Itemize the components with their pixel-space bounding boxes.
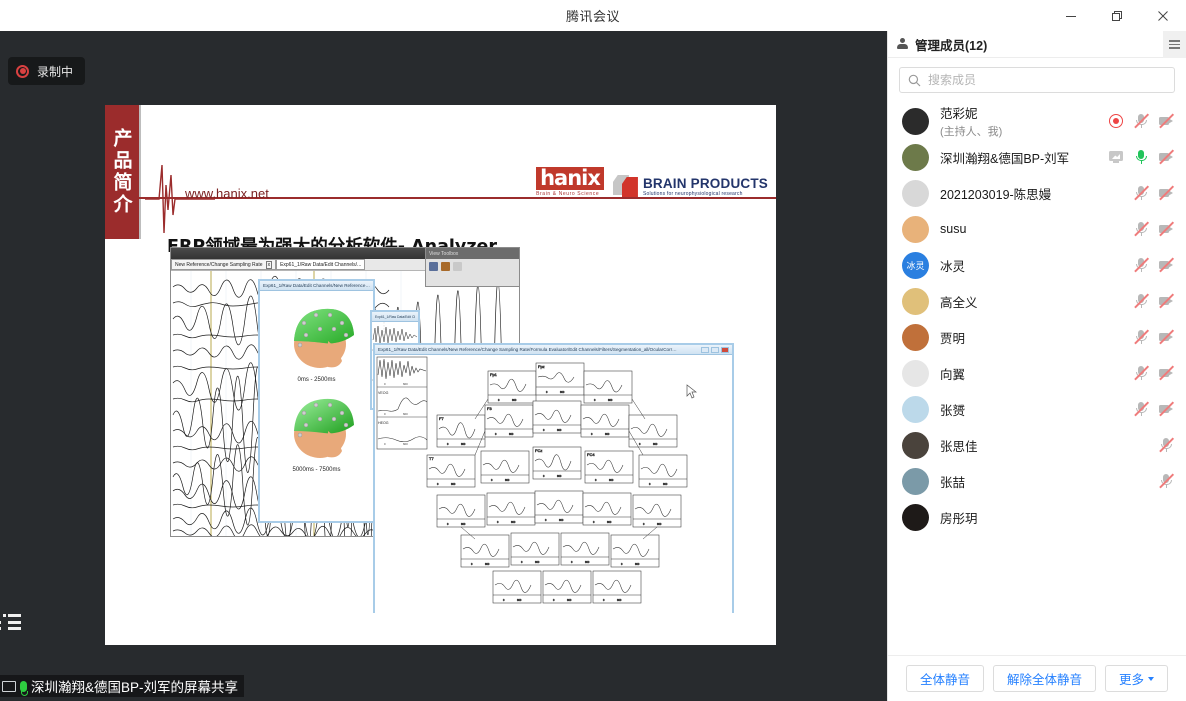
tencent-meeting-window: 腾讯会议 录制中 — [0, 0, 1186, 701]
screen-share-icon[interactable] — [1108, 149, 1124, 165]
slide-logos: hanix Brain & Neuro Science BRAIN PRODUC… — [536, 167, 768, 197]
head-model-1-label: 0ms - 2500ms — [297, 377, 335, 383]
camera-muted-icon[interactable] — [1158, 113, 1174, 129]
camera-muted-icon[interactable] — [1158, 257, 1174, 273]
slide-side-banner: 产品简介 — [105, 105, 139, 239]
participant-name-block: 深圳瀚翔&德国BP-刘军 — [940, 148, 1097, 167]
camera-muted-icon[interactable] — [1158, 329, 1174, 345]
svg-text:600: 600 — [557, 474, 562, 478]
microphone-on-icon[interactable] — [1133, 149, 1149, 165]
camera-muted-icon[interactable] — [1158, 401, 1174, 417]
participants-panel: 管理成员(12) 范彩妮(主持人、我)深圳瀚翔&德国BP-刘军202120301… — [887, 31, 1186, 701]
hanix-logo: hanix Brain & Neuro Science — [536, 167, 604, 197]
more-button-label: 更多 — [1119, 669, 1144, 688]
participant-name: 向翼 — [940, 364, 1122, 383]
svg-text:600: 600 — [609, 478, 614, 482]
avatar — [902, 432, 929, 459]
svg-text:600: 600 — [509, 432, 514, 436]
analyzer-montage-window: Exp61_1/Raw Data/Edit Channels/New Refer… — [373, 343, 734, 613]
minimize-icon — [1065, 10, 1077, 22]
camera-muted-icon[interactable] — [1158, 293, 1174, 309]
eeg-head-model-2 — [276, 389, 358, 461]
screen-share-icon — [2, 681, 16, 692]
close-icon — [1157, 10, 1169, 22]
participants-panel-title: 管理成员(12) — [915, 35, 987, 54]
shared-screen-stage: 录制中 产品简介 www.hanix.net hanix Brain & Neu… — [0, 31, 887, 701]
participant-name: 贾明 — [940, 328, 1122, 347]
svg-text:600: 600 — [461, 522, 466, 526]
montage-window-controls[interactable] — [701, 347, 729, 353]
participant-status-icons — [1108, 149, 1174, 165]
svg-text:600: 600 — [517, 598, 522, 602]
participants-panel-header: 管理成员(12) — [888, 31, 1186, 58]
svg-text:600: 600 — [403, 412, 408, 416]
participant-name-block: 张思佳 — [940, 436, 1147, 455]
svg-text:FCz: FCz — [535, 448, 542, 453]
participant-name: 2021203019-陈思嫚 — [940, 184, 1122, 203]
toolbox-titlebar: View Toolbox — [426, 248, 519, 259]
participant-row[interactable]: 2021203019-陈思嫚 — [888, 175, 1186, 211]
svg-text:600: 600 — [403, 382, 408, 386]
slide-side-banner-text: 产品简介 — [109, 128, 136, 216]
maximize-icon — [711, 347, 719, 353]
screen-share-status-text: 深圳瀚翔&德国BP-刘军的屏幕共享 — [31, 676, 238, 696]
head-model-window-titlebar: Exp61_1/Raw Data/Edit Channels/New Refer… — [260, 281, 373, 291]
brain-products-head-icon — [613, 175, 639, 197]
svg-text:600: 600 — [559, 518, 564, 522]
montage-window-titlebar[interactable]: Exp61_1/Raw Data/Edit Channels/New Refer… — [375, 345, 732, 355]
participant-status-icons — [1158, 437, 1174, 453]
mute-all-button[interactable]: 全体静音 — [906, 665, 984, 692]
brain-products-logo-tagline: Solutions for neurophysiological researc… — [643, 191, 768, 197]
participant-row[interactable]: susu — [888, 211, 1186, 247]
recording-indicator: 录制中 — [8, 57, 85, 85]
eog-window-titlebar: Exp61_1/Raw Data/Edit Channels/New Refer… — [372, 312, 418, 322]
slide-vertical-rule — [139, 105, 141, 239]
participant-name-block: 向翼 — [940, 364, 1122, 383]
participant-status-icons — [1133, 257, 1174, 273]
restore-button[interactable] — [1094, 0, 1140, 31]
avatar — [902, 144, 929, 171]
participant-list[interactable]: 范彩妮(主持人、我)深圳瀚翔&德国BP-刘军2021203019-陈思嫚susu… — [888, 99, 1186, 655]
search-input[interactable] — [928, 73, 1166, 87]
participant-status-icons — [1158, 473, 1174, 489]
participant-name: 张赟 — [940, 400, 1122, 419]
participant-status-icons — [1108, 113, 1174, 129]
participant-name-block: 冰灵 — [940, 256, 1122, 275]
participant-name-block: 范彩妮(主持人、我) — [940, 103, 1097, 139]
microphone-muted-icon[interactable] — [1133, 185, 1149, 201]
eeg-topographic-montage: VEOG HEOG 0600 0600 0600 — [375, 355, 732, 613]
search-area — [888, 58, 1186, 99]
hanix-logo-wordmark: hanix — [536, 167, 604, 190]
avatar — [902, 324, 929, 351]
search-box[interactable] — [899, 67, 1175, 93]
svg-text:600: 600 — [585, 560, 590, 564]
microphone-muted-icon[interactable] — [1158, 437, 1174, 453]
svg-text:600: 600 — [451, 482, 456, 486]
brain-products-logo: BRAIN PRODUCTS Solutions for neurophysio… — [613, 175, 768, 197]
list-view-icon[interactable] — [3, 614, 21, 630]
hamburger-menu-icon[interactable] — [1163, 31, 1186, 58]
toolbox-icon-3[interactable] — [453, 262, 462, 271]
microphone-muted-icon[interactable] — [1133, 293, 1149, 309]
avatar — [902, 288, 929, 315]
tab-close-icon[interactable]: x — [266, 261, 273, 269]
participant-role: (主持人、我) — [940, 123, 1097, 139]
toolbox-icon-2[interactable] — [441, 262, 450, 271]
participant-name: 冰灵 — [940, 256, 1122, 275]
analyzer-tab[interactable]: New Reference/Change Sampling Rate x — [171, 259, 276, 270]
participant-name-block: susu — [940, 222, 1122, 236]
participant-status-icons — [1133, 329, 1174, 345]
participant-row[interactable]: 高全义 — [888, 283, 1186, 319]
participant-status-icons — [1133, 401, 1174, 417]
search-icon — [908, 74, 921, 87]
camera-muted-icon[interactable] — [1158, 185, 1174, 201]
minimize-icon — [701, 347, 709, 353]
hanix-logo-tagline: Brain & Neuro Science — [536, 191, 599, 197]
record-dot-icon — [16, 65, 29, 78]
svg-text:600: 600 — [663, 482, 668, 486]
svg-text:600: 600 — [505, 478, 510, 482]
svg-text:600: 600 — [560, 390, 565, 394]
avatar — [902, 360, 929, 387]
participant-name: 范彩妮 — [940, 103, 1097, 122]
participant-name: 深圳瀚翔&德国BP-刘军 — [940, 148, 1097, 167]
camera-muted-icon[interactable] — [1158, 365, 1174, 381]
participant-name: 高全义 — [940, 292, 1122, 311]
svg-text:600: 600 — [607, 520, 612, 524]
eog-window-title: Exp61_1/Raw Data/Edit Channels/New Refer… — [375, 315, 415, 319]
participant-status-icons — [1133, 185, 1174, 201]
participant-status-icons — [1133, 365, 1174, 381]
participant-row[interactable]: 范彩妮(主持人、我) — [888, 103, 1186, 139]
participant-status-icons — [1133, 221, 1174, 237]
microphone-muted-icon[interactable] — [1133, 365, 1149, 381]
slide-url-text: www.hanix.net — [185, 186, 269, 201]
svg-text:600: 600 — [635, 562, 640, 566]
participants-panel-footer: 全体静音 解除全体静音 更多 — [888, 655, 1186, 701]
window-controls — [1048, 0, 1186, 31]
camera-muted-icon[interactable] — [1158, 221, 1174, 237]
participant-row[interactable]: 张赟 — [888, 391, 1186, 427]
svg-text:FC4: FC4 — [587, 452, 595, 457]
avatar — [902, 216, 929, 243]
svg-text:600: 600 — [567, 598, 572, 602]
svg-text:Fp1: Fp1 — [490, 372, 498, 377]
svg-text:Fpz: Fpz — [538, 364, 545, 369]
chevron-down-icon — [1148, 677, 1154, 681]
svg-text:600: 600 — [557, 428, 562, 432]
analyzer-tab[interactable]: Exp61_1/Raw Data/Edit Channels/... — [276, 259, 365, 270]
svg-text:600: 600 — [605, 432, 610, 436]
participant-name: susu — [940, 222, 1122, 236]
svg-text:F7: F7 — [439, 416, 444, 421]
participant-name-block: 张喆 — [940, 472, 1147, 491]
minimize-button[interactable] — [1048, 0, 1094, 31]
svg-text:600: 600 — [657, 522, 662, 526]
head-model-window-title: Exp61_1/Raw Data/Edit Channels/New Refer… — [263, 283, 370, 288]
microphone-muted-icon[interactable] — [1133, 401, 1149, 417]
svg-text:600: 600 — [511, 520, 516, 524]
microphone-muted-icon[interactable] — [1133, 257, 1149, 273]
analyzer-toolbox-panel: View Toolbox — [425, 247, 520, 287]
svg-text:600: 600 — [535, 560, 540, 564]
participant-status-icons — [1133, 293, 1174, 309]
participant-row[interactable]: 贾明 — [888, 319, 1186, 355]
participant-name-block: 贾明 — [940, 328, 1122, 347]
avatar — [902, 504, 929, 531]
participant-name: 张喆 — [940, 472, 1147, 491]
svg-text:VEOG: VEOG — [378, 391, 389, 395]
participant-row[interactable]: 向翼 — [888, 355, 1186, 391]
participant-name: 房彤玥 — [940, 508, 1163, 527]
toolbox-label: View Toolbox — [429, 251, 458, 257]
avatar — [902, 108, 929, 135]
participant-row[interactable]: 冰灵冰灵 — [888, 247, 1186, 283]
microphone-on-icon — [20, 681, 27, 692]
close-button[interactable] — [1140, 0, 1186, 31]
record-indicator-icon[interactable] — [1108, 113, 1124, 129]
participant-row[interactable]: 深圳瀚翔&德国BP-刘军 — [888, 139, 1186, 175]
svg-text:600: 600 — [403, 442, 408, 446]
participant-row[interactable]: 张思佳 — [888, 427, 1186, 463]
toolbox-icon-1[interactable] — [429, 262, 438, 271]
restore-icon — [1111, 10, 1123, 22]
screen-share-status-bar: 深圳瀚翔&德国BP-刘军的屏幕共享 — [0, 675, 244, 697]
microphone-muted-icon[interactable] — [1133, 221, 1149, 237]
svg-text:600: 600 — [653, 442, 658, 446]
avatar — [902, 396, 929, 423]
svg-text:600: 600 — [461, 442, 466, 446]
avatar — [902, 180, 929, 207]
participant-row[interactable]: 张喆 — [888, 463, 1186, 499]
recording-label: 录制中 — [37, 63, 73, 80]
avatar — [902, 468, 929, 495]
eeg-head-model-1 — [276, 299, 358, 371]
svg-text:600: 600 — [617, 598, 622, 602]
microphone-muted-icon[interactable] — [1133, 113, 1149, 129]
brain-products-logo-wordmark: BRAIN PRODUCTS — [643, 176, 768, 191]
participant-name: 张思佳 — [940, 436, 1147, 455]
window-title: 腾讯会议 — [566, 6, 620, 25]
presentation-slide: 产品简介 www.hanix.net hanix Brain & Neuro S… — [105, 105, 776, 645]
person-icon — [896, 38, 909, 51]
svg-text:T7: T7 — [429, 456, 434, 461]
participant-name-block: 高全义 — [940, 292, 1122, 311]
microphone-muted-icon[interactable] — [1158, 473, 1174, 489]
more-button[interactable]: 更多 — [1105, 665, 1168, 692]
svg-text:F3: F3 — [487, 406, 492, 411]
svg-text:600: 600 — [608, 398, 613, 402]
participant-name-block: 张赟 — [940, 400, 1122, 419]
analyzer-head-model-window: Exp61_1/Raw Data/Edit Channels/New Refer… — [258, 279, 375, 523]
microphone-muted-icon[interactable] — [1133, 329, 1149, 345]
unmute-all-button[interactable]: 解除全体静音 — [993, 665, 1096, 692]
avatar: 冰灵 — [902, 252, 929, 279]
title-bar: 腾讯会议 — [0, 0, 1186, 31]
participant-name-block: 房彤玥 — [940, 508, 1163, 527]
toolbox-buttons — [426, 259, 519, 274]
svg-text:600: 600 — [512, 398, 517, 402]
montage-window-title: Exp61_1/Raw Data/Edit Channels/New Refer… — [378, 347, 678, 352]
participant-name-block: 2021203019-陈思嫚 — [940, 184, 1122, 203]
camera-muted-icon[interactable] — [1158, 149, 1174, 165]
svg-text:HEOG: HEOG — [378, 421, 389, 425]
participant-row[interactable]: 房彤玥 — [888, 499, 1186, 535]
head-model-2-label: 5000ms - 7500ms — [292, 467, 340, 473]
close-icon — [721, 347, 729, 353]
svg-text:600: 600 — [485, 562, 490, 566]
